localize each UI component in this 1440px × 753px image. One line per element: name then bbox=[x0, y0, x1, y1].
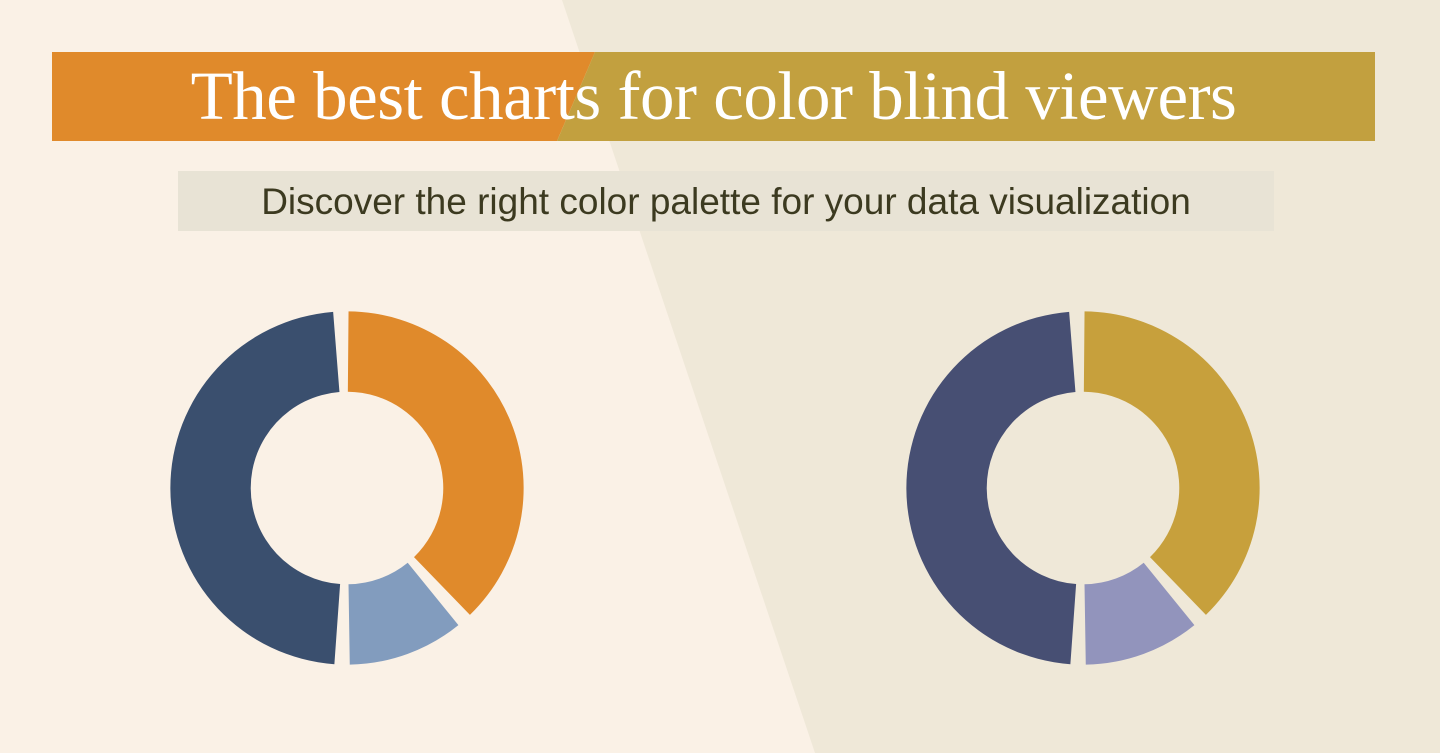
donut-chart-normal-vision bbox=[155, 296, 539, 680]
poster-canvas: The best charts for color blind viewers … bbox=[0, 0, 1440, 753]
donut-svg-right bbox=[891, 296, 1275, 680]
title-banner bbox=[52, 52, 1375, 141]
donut-segment-a bbox=[348, 311, 524, 614]
donut-segment-c bbox=[170, 312, 340, 664]
subtitle-band bbox=[178, 171, 1274, 231]
donut-chart-colorblind-simulation bbox=[891, 296, 1275, 680]
donut-segment-a bbox=[1084, 311, 1260, 614]
donut-segment-c bbox=[906, 312, 1076, 664]
donut-svg-left bbox=[155, 296, 539, 680]
